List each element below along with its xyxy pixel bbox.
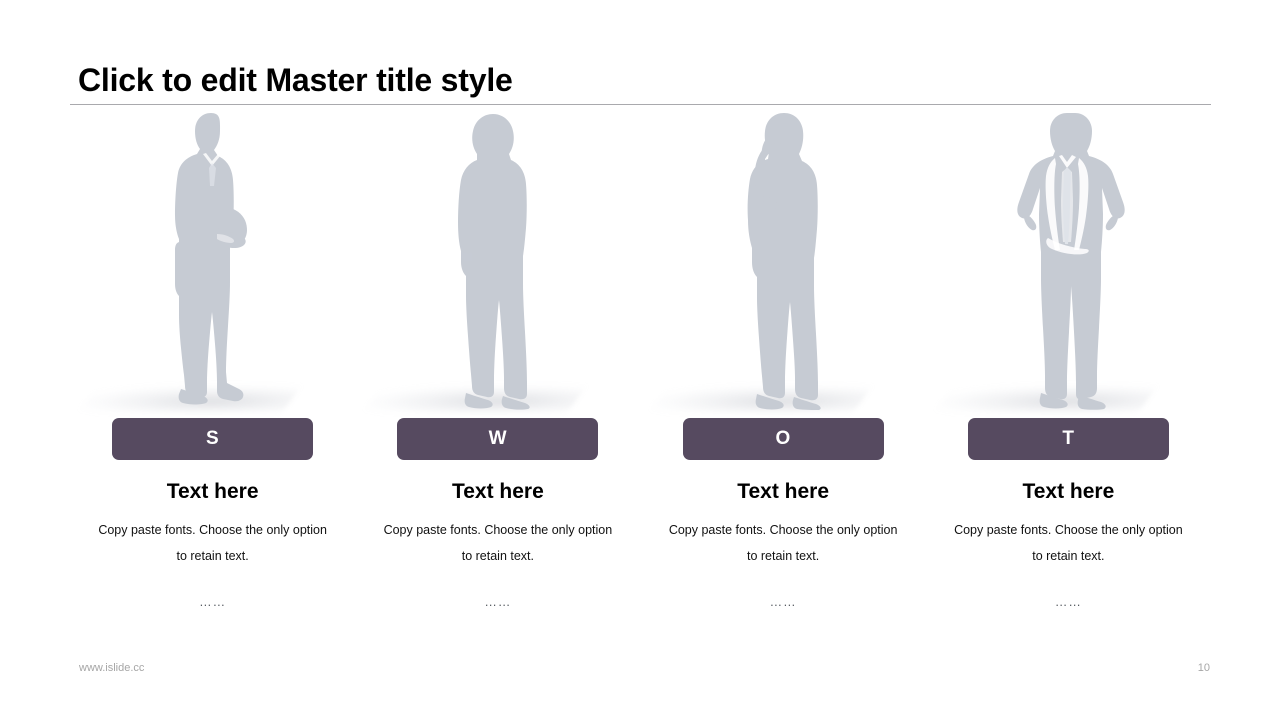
column-dots-t[interactable]: ……: [1055, 595, 1082, 609]
swot-columns: S Text here Copy paste fonts. Choose the…: [70, 110, 1211, 650]
page-title[interactable]: Click to edit Master title style: [78, 62, 513, 99]
column-heading-s[interactable]: Text here: [167, 480, 259, 504]
title-divider: [70, 104, 1211, 105]
footer-page-number: 10: [1198, 662, 1210, 674]
badge-w[interactable]: W: [397, 418, 598, 460]
badge-s[interactable]: S: [112, 418, 313, 460]
column-body-t[interactable]: Copy paste fonts. Choose the only option…: [952, 517, 1184, 569]
figure-container-o: [641, 110, 926, 410]
slide-canvas: Click to edit Master title style: [0, 0, 1280, 720]
figure-container-w: [355, 110, 640, 410]
swot-column-t[interactable]: T Text here Copy paste fonts. Choose the…: [926, 110, 1211, 650]
swot-column-w[interactable]: W Text here Copy paste fonts. Choose the…: [355, 110, 640, 650]
column-body-w[interactable]: Copy paste fonts. Choose the only option…: [382, 517, 614, 569]
businessman-hands-on-hips-silhouette: [1003, 110, 1133, 410]
swot-column-o[interactable]: O Text here Copy paste fonts. Choose the…: [641, 110, 926, 650]
swot-column-s[interactable]: S Text here Copy paste fonts. Choose the…: [70, 110, 355, 650]
column-dots-o[interactable]: ……: [770, 595, 797, 609]
businessman-arms-crossed-silhouette: [154, 110, 272, 410]
badge-t[interactable]: T: [968, 418, 1169, 460]
businessman-hand-on-chin-thinking-silhouette: [724, 110, 842, 410]
column-body-s[interactable]: Copy paste fonts. Choose the only option…: [97, 517, 329, 569]
badge-letter: S: [206, 428, 219, 450]
column-heading-o[interactable]: Text here: [737, 480, 829, 504]
businessman-head-down-profile-silhouette: [439, 110, 557, 410]
column-heading-w[interactable]: Text here: [452, 480, 544, 504]
column-dots-s[interactable]: ……: [199, 595, 226, 609]
footer-website[interactable]: www.islide.cc: [79, 662, 144, 674]
figure-container-s: [70, 110, 355, 410]
badge-letter: W: [489, 428, 507, 450]
badge-letter: T: [1062, 428, 1074, 450]
column-body-o[interactable]: Copy paste fonts. Choose the only option…: [667, 517, 899, 569]
column-dots-w[interactable]: ……: [484, 595, 511, 609]
badge-letter: O: [775, 428, 790, 450]
column-heading-t[interactable]: Text here: [1022, 480, 1114, 504]
badge-o[interactable]: O: [683, 418, 884, 460]
figure-container-t: [926, 110, 1211, 410]
